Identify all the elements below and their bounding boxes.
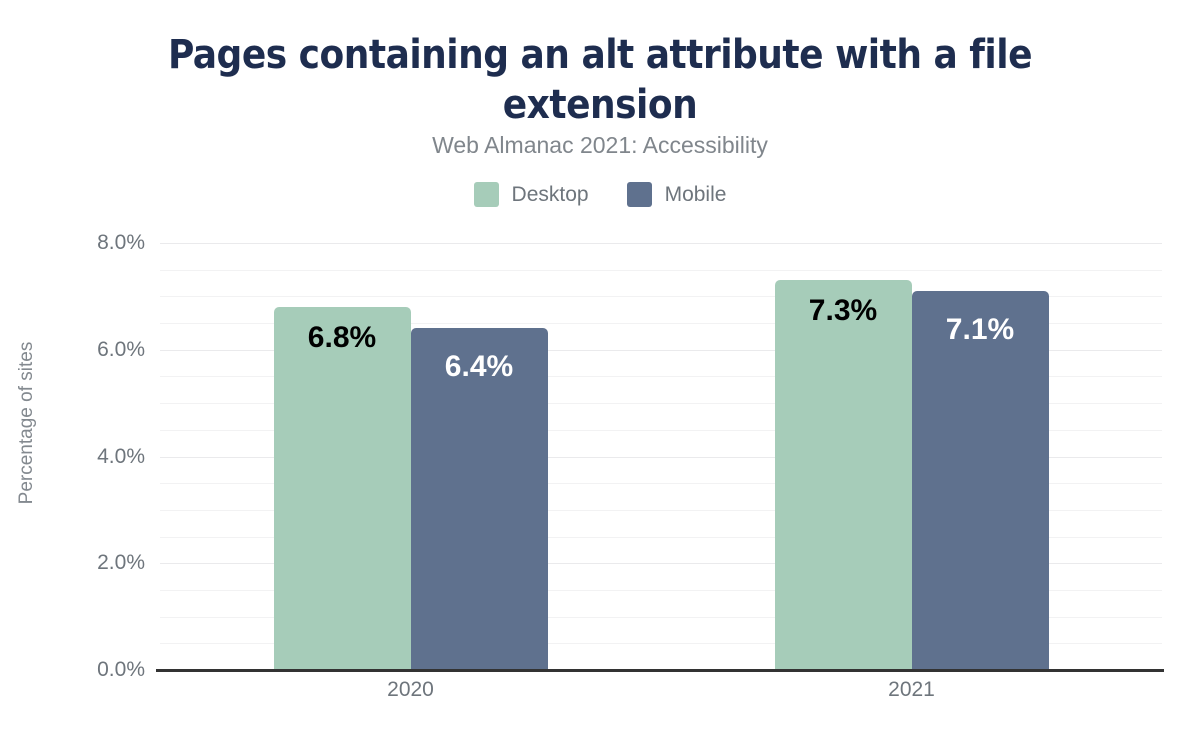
bar-desktop-2021[interactable]: 7.3% — [775, 280, 912, 670]
y-tick-label: 2.0% — [45, 551, 145, 575]
y-tick-label: 4.0% — [45, 445, 145, 469]
bar-mobile-2021[interactable]: 7.1% — [912, 291, 1049, 670]
legend-item-desktop[interactable]: Desktop — [474, 182, 589, 207]
y-axis-title: Percentage of sites — [16, 323, 38, 523]
x-tick-label-2020: 2020 — [311, 678, 511, 702]
gridline-major — [160, 243, 1162, 244]
x-axis-ticks: 20202021 — [160, 678, 1162, 718]
legend-label-desktop: Desktop — [512, 182, 589, 207]
gridline-minor — [160, 270, 1162, 271]
bar-chart: Pages containing an alt attribute with a… — [0, 0, 1200, 742]
bar-value-label: 6.8% — [274, 321, 411, 355]
x-axis-line — [156, 669, 1164, 672]
legend-swatch-mobile — [627, 182, 652, 207]
y-axis-ticks: 0.0%2.0%4.0%6.0%8.0% — [40, 243, 145, 670]
legend-swatch-desktop — [474, 182, 499, 207]
x-tick-label-2021: 2021 — [812, 678, 1012, 702]
chart-subtitle: Web Almanac 2021: Accessibility — [100, 130, 1100, 160]
legend-label-mobile: Mobile — [665, 182, 727, 207]
bar-value-label: 7.3% — [775, 294, 912, 328]
chart-legend: Desktop Mobile — [0, 182, 1200, 207]
bar-mobile-2020[interactable]: 6.4% — [411, 328, 548, 670]
plot-area: 6.8%6.4%7.3%7.1% — [160, 243, 1162, 670]
bar-desktop-2020[interactable]: 6.8% — [274, 307, 411, 670]
bar-value-label: 7.1% — [912, 313, 1049, 347]
bar-value-label: 6.4% — [411, 350, 548, 384]
y-tick-label: 6.0% — [45, 338, 145, 362]
y-tick-label: 0.0% — [45, 658, 145, 682]
y-tick-label: 8.0% — [45, 231, 145, 255]
chart-title: Pages containing an alt attribute with a… — [100, 30, 1100, 130]
legend-item-mobile[interactable]: Mobile — [627, 182, 727, 207]
